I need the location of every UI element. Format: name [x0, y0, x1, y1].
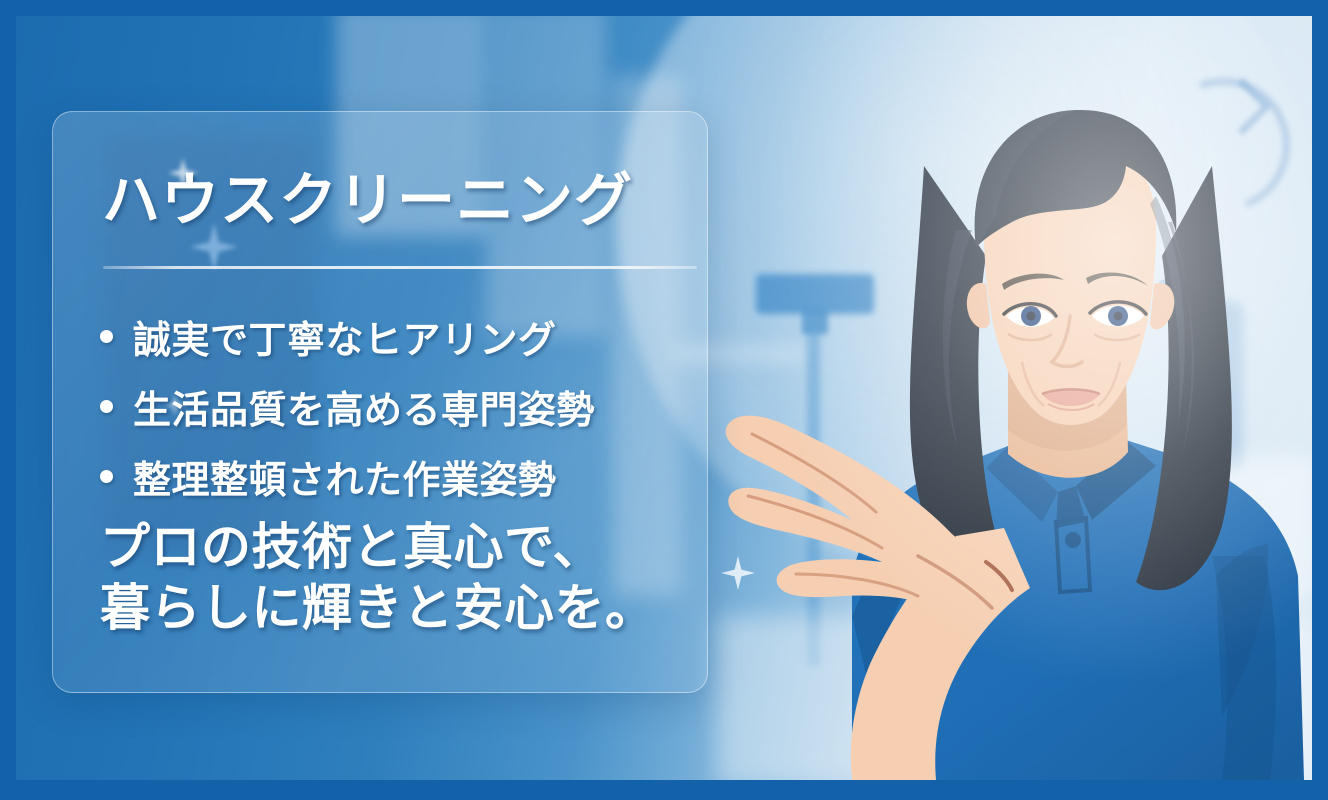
- card-content: ハウスクリーニング 誠実で丁寧なヒアリング 生活品質を高める専門姿勢 整理整頓さ…: [52, 111, 706, 691]
- page-title: ハウスクリーニング: [102, 153, 633, 237]
- sparkle-icon-3: [721, 556, 755, 590]
- list-item: 整理整頓された作業姿勢: [100, 441, 700, 511]
- feature-list: 誠実で丁寧なヒアリング 生活品質を高める専門姿勢 整理整頓された作業姿勢: [100, 301, 700, 511]
- bucket-icon: [1136, 456, 1312, 606]
- tagline-line-1: プロの技術と真心で、: [100, 517, 700, 578]
- tagline: プロの技術と真心で、 暮らしに輝きと安心を。: [100, 517, 700, 639]
- bullet-dot-icon: [100, 330, 113, 343]
- list-item: 生活品質を高める専門姿勢: [100, 371, 700, 441]
- background-counter: [716, 616, 1312, 780]
- list-item: 誠実で丁寧なヒアリング: [100, 301, 700, 371]
- poster-root: ハウスクリーニング 誠実で丁寧なヒアリング 生活品質を高める専門姿勢 整理整頓さ…: [0, 0, 1328, 800]
- tagline-line-2: 暮らしに輝きと安心を。: [100, 578, 700, 639]
- spray-bottle-icon: [1181, 301, 1243, 471]
- feature-label: 整理整頓された作業姿勢: [133, 449, 557, 504]
- squeegee-handle-icon: [807, 326, 820, 666]
- bullet-dot-icon: [100, 400, 113, 413]
- feature-label: 誠実で丁寧なヒアリング: [133, 309, 557, 364]
- title-divider: [103, 266, 697, 269]
- bullet-dot-icon: [100, 470, 113, 483]
- feature-label: 生活品質を高める専門姿勢: [133, 379, 595, 434]
